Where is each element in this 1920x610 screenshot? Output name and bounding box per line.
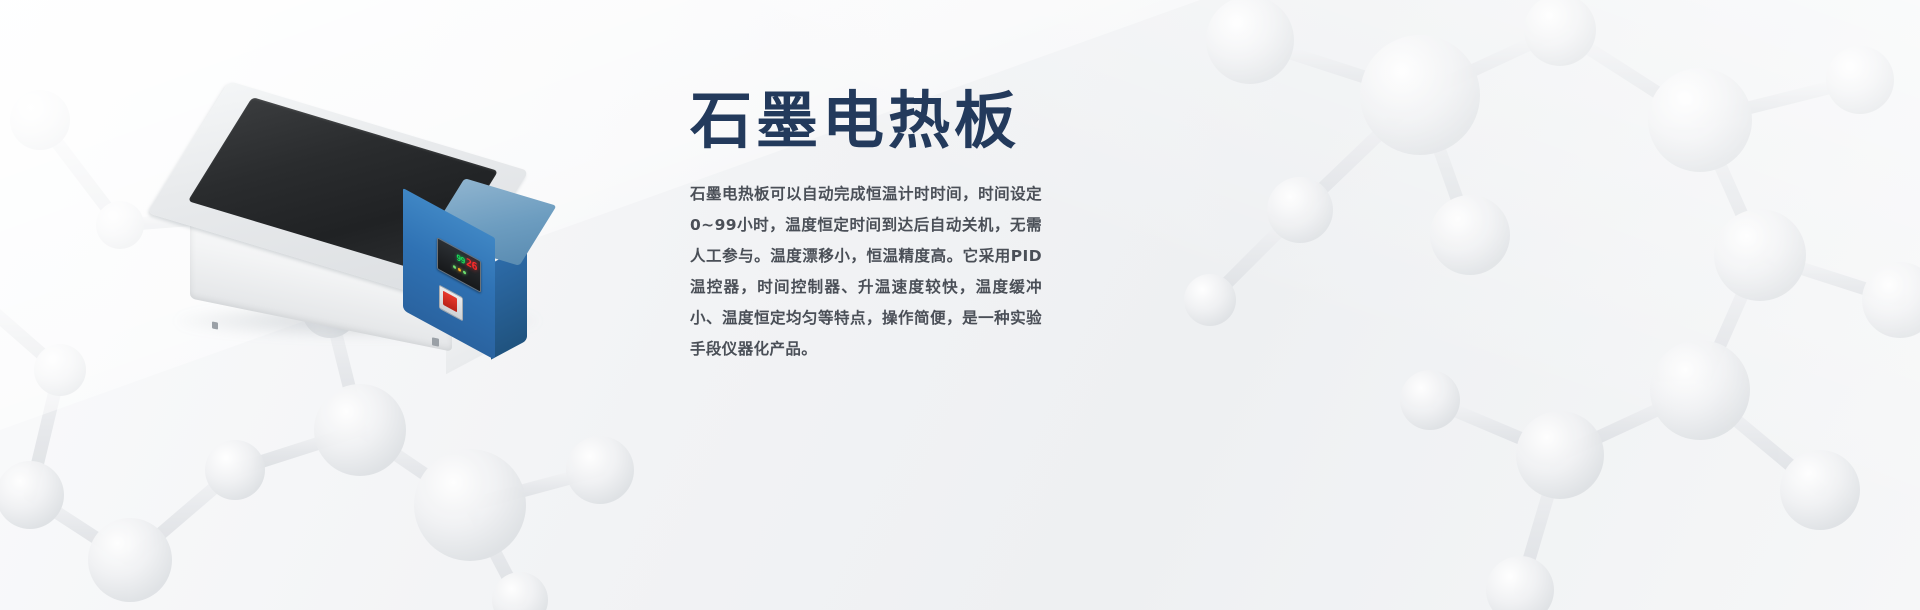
- housing-foot-left: [212, 321, 218, 329]
- product-description-text: 石墨电热板可以自动完成恒温计时时间，时间设定0~99小时，温度恒定时间到达后自动…: [690, 179, 1042, 365]
- product-banner: 99 26 石墨电热板 石墨电热板可以自动完成恒温计时时间，时间设定0~99小时…: [0, 0, 1920, 610]
- banner-copy: 石墨电热板 石墨电热板可以自动完成恒温计时时间，时间设定0~99小时，温度恒定时…: [690, 86, 1390, 365]
- led-indicator-timer: [463, 270, 466, 275]
- product-description: 石墨电热板可以自动完成恒温计时时间，时间设定0~99小时，温度恒定时间到达后自动…: [690, 179, 1042, 365]
- product-image: 99 26: [150, 108, 580, 368]
- power-switch-rocker[interactable]: [443, 291, 457, 313]
- led-indicator-run: [453, 264, 456, 269]
- led-indicator-heat: [458, 267, 461, 272]
- graphite-hotplate-unit: 99 26: [150, 108, 580, 358]
- page-title: 石墨电热板: [690, 86, 1390, 155]
- housing-foot-right: [432, 337, 439, 346]
